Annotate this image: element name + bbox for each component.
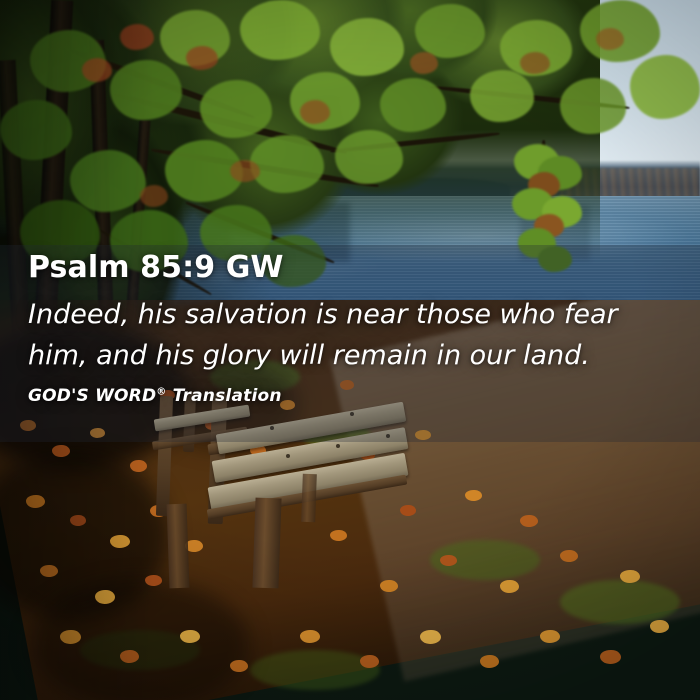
- translation-suffix: Translation: [173, 386, 282, 406]
- verse-reference: Psalm 85:9 GW: [28, 250, 284, 286]
- verse-text: Indeed, his salvation is near those who …: [28, 294, 688, 376]
- translation-attribution: GOD'S WORD® Translation: [28, 385, 282, 407]
- registered-trademark-icon: ®: [156, 386, 166, 397]
- verse-text-line-2: him, and his glory will remain in our la…: [28, 335, 688, 376]
- verse-text-line-1: Indeed, his salvation is near those who …: [28, 294, 688, 335]
- verse-text-layer: Psalm 85:9 GW Indeed, his salvation is n…: [0, 0, 700, 700]
- bible-verse-card: Psalm 85:9 GW Indeed, his salvation is n…: [0, 0, 700, 700]
- translation-name: GOD'S WORD: [28, 386, 156, 406]
